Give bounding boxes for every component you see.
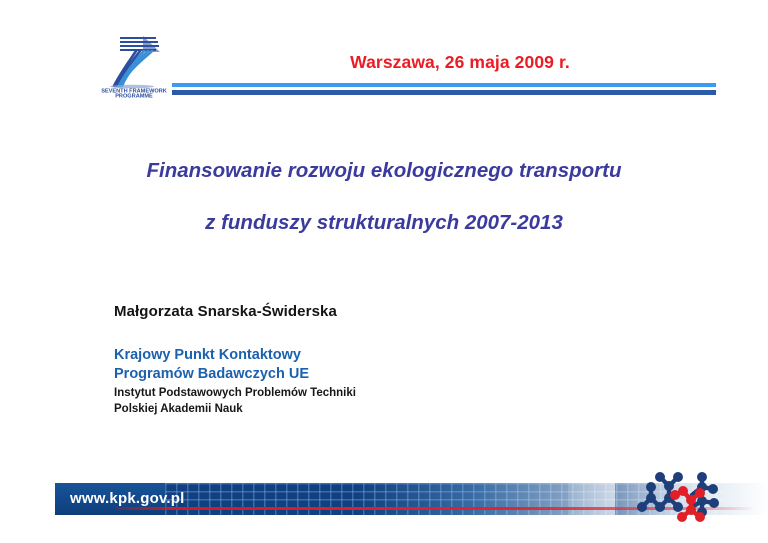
- slide-header: SEVENTH FRAMEWORK PROGRAMME Warszawa, 26…: [0, 0, 768, 120]
- slide-footer: www.kpk.gov.pl: [0, 460, 768, 543]
- institute-line-2: Polskiej Akademii Nauk: [114, 402, 534, 418]
- fp7-logo: SEVENTH FRAMEWORK PROGRAMME: [96, 30, 174, 98]
- header-divider: [172, 83, 716, 99]
- institute-block: Instytut Podstawowych Problemów Techniki…: [114, 386, 534, 418]
- page-title: Finansowanie rozwoju ekologicznego trans…: [40, 158, 728, 235]
- institute-line-1: Instytut Podstawowych Problemów Techniki: [114, 386, 534, 402]
- footer-website-url[interactable]: www.kpk.gov.pl: [70, 490, 184, 507]
- fp7-logo-line2: PROGRAMME: [115, 94, 153, 99]
- slide-root: SEVENTH FRAMEWORK PROGRAMME Warszawa, 26…: [0, 0, 768, 543]
- organization-line-1: Krajowy Punkt Kontaktowy: [114, 346, 534, 365]
- organization-line-2: Programów Badawczych UE: [114, 365, 534, 384]
- kpk-molecule-logo: [630, 465, 730, 535]
- header-divider-bottom-line: [172, 90, 716, 95]
- page-title-line-2: z funduszy strukturalnych 2007-2013: [40, 210, 728, 236]
- page-title-line-1: Finansowanie rozwoju ekologicznego trans…: [40, 158, 728, 184]
- author-block: Małgorzata Snarska-Świderska Krajowy Pun…: [114, 303, 534, 418]
- organization-block: Krajowy Punkt Kontaktowy Programów Badaw…: [114, 346, 534, 384]
- author-name: Małgorzata Snarska-Świderska: [114, 303, 534, 321]
- header-date: Warszawa, 26 maja 2009 r.: [200, 52, 720, 73]
